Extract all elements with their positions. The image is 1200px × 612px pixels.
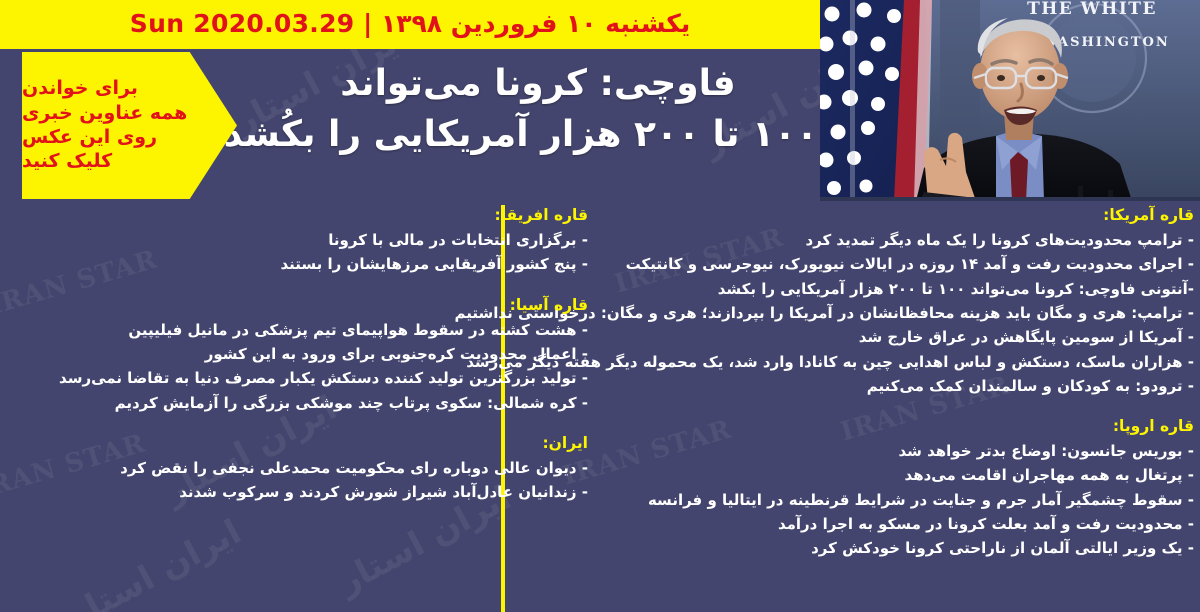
list-item[interactable]: - ترودو: به کودکان و سالمندان کمک می‌کنی… [606, 374, 1194, 398]
headline-line-2: ۱۰۰ تا ۲۰۰ هزار آمریکایی را بکُشد [258, 109, 818, 160]
list-item[interactable]: - سقوط چشمگیر آمار جرم و جنایت در شرایط … [606, 488, 1194, 512]
column-right: قاره آمریکا: - ترامپ محدودیت‌های کرونا ر… [606, 203, 1194, 563]
callout-line-1: برای خواندن [22, 77, 138, 100]
list-item[interactable]: - هزاران ماسک، دستکش و لباس اهدایی چین ب… [606, 350, 1194, 374]
photo-illustration: THE WHITE WASHINGTON [820, 0, 1200, 201]
date-bar-text: یکشنبه ۱۰ فروردین ۱۳۹۸ | Sun 2020.03.29 [130, 9, 690, 38]
list-item[interactable]: - کره شمالی: سکوی پرتاب چند موشکی بزرگی … [6, 391, 588, 415]
section-title-europe: قاره اروپا: [606, 414, 1194, 438]
list-item[interactable]: - یک وزیر ایالتی آلمان از ناراحتی کرونا … [606, 536, 1194, 560]
svg-text:THE WHITE: THE WHITE [1027, 0, 1157, 19]
page-title: فاوچی: کرونا می‌تواند ۱۰۰ تا ۲۰۰ هزار آم… [258, 58, 818, 160]
list-item[interactable]: - اعمال محدودیت کره‌جنوبی برای ورود به ا… [6, 342, 588, 366]
watermark-iran-star-farsi: ایران استار [62, 512, 248, 612]
list-item[interactable]: - تولید بزرگترین تولید کننده دستکش یکبار… [6, 366, 588, 390]
list-item[interactable]: - آمریکا از سومین پایگاهش در عراق خارج ش… [606, 325, 1194, 349]
section-iran: ایران: - دیوان عالی دوباره رای محکومیت م… [6, 431, 588, 505]
list-item[interactable]: - اجرای محدودیت رفت و آمد ۱۴ روزه در ایا… [606, 252, 1194, 276]
callout-line-4: کلیک کنید [22, 150, 112, 173]
list-item[interactable]: - دیوان عالی دوباره رای محکومیت محمدعلی … [6, 456, 588, 480]
list-item[interactable]: - پنج کشور آفریقایی مرزهایشان را بستند [6, 252, 588, 276]
section-europe: قاره اروپا: - بوریس جانسون: اوضاع بدتر خ… [606, 414, 1194, 561]
section-asia: قاره آسیا: - هشت کشته در سقوط هواپیمای ت… [6, 293, 588, 415]
list-item[interactable]: - زندانیان عادل‌آباد شیراز شورش کردند و … [6, 480, 588, 504]
list-item[interactable]: -آنتونی فاوچی: کرونا می‌تواند ۱۰۰ تا ۲۰۰… [606, 277, 1194, 301]
list-item[interactable]: - برگزاری انتخابات در مالی با کرونا [6, 228, 588, 252]
news-graphic-canvas: IRAN STAR IRAN STAR IRAN STAR IRAN STAR … [0, 0, 1200, 612]
date-bar: یکشنبه ۱۰ فروردین ۱۳۹۸ | Sun 2020.03.29 [0, 0, 820, 49]
section-africa: قاره افریقا: - برگزاری انتخابات در مالی … [6, 203, 588, 277]
fauci-press-briefing-photo[interactable]: THE WHITE WASHINGTON [820, 0, 1200, 201]
list-item[interactable]: - ترامپ: هری و مگان باید هزینه محافظانشا… [606, 301, 1194, 325]
section-title-africa: قاره افریقا: [6, 203, 588, 227]
section-title-asia: قاره آسیا: [6, 293, 588, 317]
headline-line-1: فاوچی: کرونا می‌تواند [258, 58, 818, 109]
column-left: قاره افریقا: - برگزاری انتخابات در مالی … [6, 203, 588, 506]
click-to-read-callout[interactable]: برای خواندن همه عناوین خبری روی این عکس … [22, 52, 237, 199]
callout-line-3: روی این عکس [22, 126, 157, 149]
list-item[interactable]: - پرتغال به همه مهاجران اقامت می‌دهد [606, 463, 1194, 487]
callout-lines: برای خواندن همه عناوین خبری روی این عکس … [22, 52, 190, 199]
section-america: قاره آمریکا: - ترامپ محدودیت‌های کرونا ر… [606, 203, 1194, 398]
callout-line-2: همه عناوین خبری [22, 102, 187, 125]
section-title-iran: ایران: [6, 431, 588, 455]
list-item[interactable]: - بوریس جانسون: اوضاع بدتر خواهد شد [606, 439, 1194, 463]
list-item[interactable]: - محدودیت رفت و آمد بعلت کرونا در مسکو ب… [606, 512, 1194, 536]
section-title-america: قاره آمریکا: [606, 203, 1194, 227]
list-item[interactable]: - ترامپ محدودیت‌های کرونا را یک ماه دیگر… [606, 228, 1194, 252]
list-item[interactable]: - هشت کشته در سقوط هواپیمای تیم پزشکی در… [6, 318, 588, 342]
